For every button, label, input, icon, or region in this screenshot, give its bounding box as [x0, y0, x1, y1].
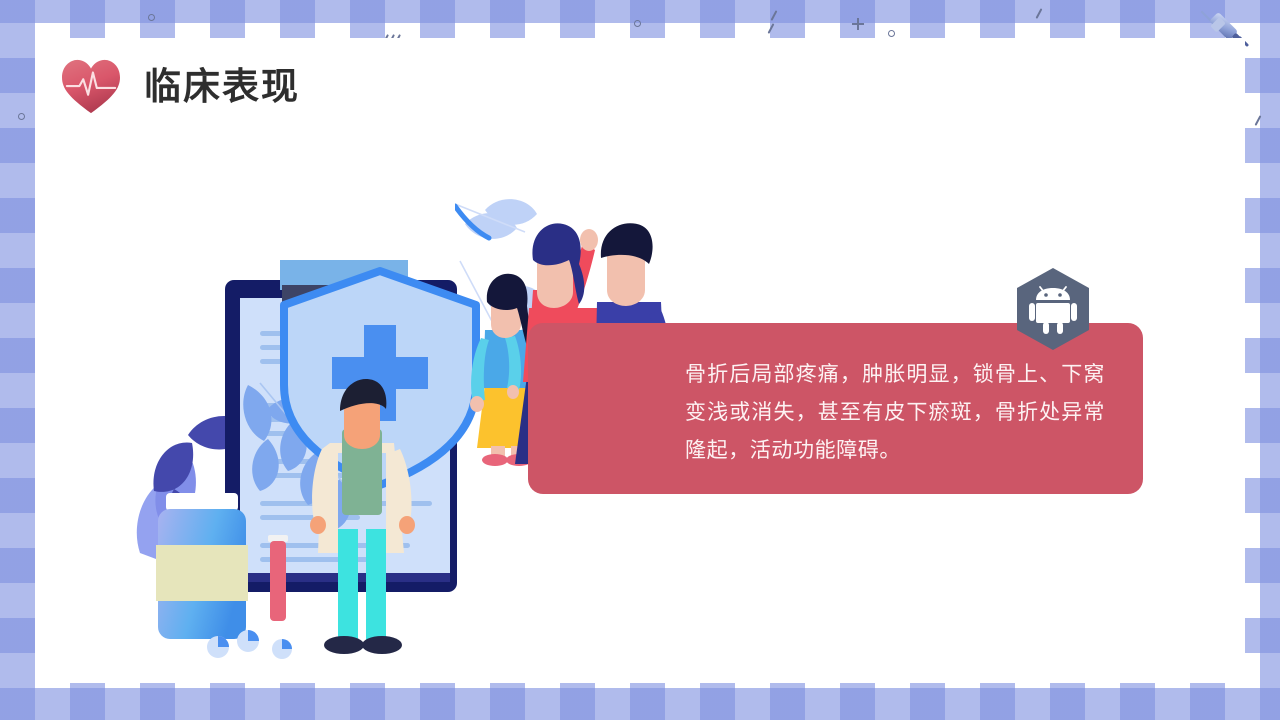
decor-slash-icon [1036, 8, 1048, 24]
page-title: 临床表现 [144, 69, 300, 106]
decor-slash-icon [1255, 115, 1267, 131]
slide-canvas: 临床表现 [0, 0, 1280, 720]
content-card: 临床表现 [35, 38, 1245, 683]
decor-plus-icon [852, 18, 864, 30]
decor-circle-icon [148, 14, 155, 21]
slide-header: 临床表现 [60, 58, 300, 116]
decor-circle-icon [634, 20, 641, 27]
test-tube-icon [268, 535, 288, 621]
android-badge[interactable] [1013, 266, 1093, 352]
decor-circle-icon [18, 113, 25, 120]
decor-circle-icon [888, 30, 895, 37]
heart-pulse-icon [60, 58, 122, 116]
pill-bottle-icon [156, 493, 248, 639]
callout-body-text: 骨折后局部疼痛，肿胀明显，锁骨上、下窝变浅或消失，甚至有皮下瘀斑，骨折处异常隆起… [685, 355, 1105, 469]
decor-slash-icon [770, 10, 782, 36]
